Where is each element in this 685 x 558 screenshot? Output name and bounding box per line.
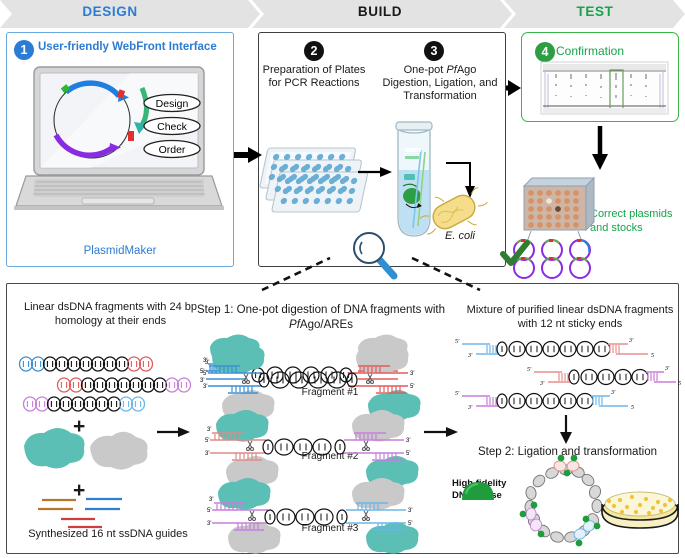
fragment-label-1: Fragment #1 bbox=[285, 387, 375, 398]
plasmid-stock-icons bbox=[514, 239, 590, 278]
phase-label-build: BUILD bbox=[330, 4, 430, 19]
arrow-build-to-test bbox=[506, 80, 521, 96]
step-badge-4: 4 bbox=[535, 42, 555, 62]
step3-rest: Digestion, Ligation, and Transformation bbox=[383, 77, 498, 102]
design-panel-title: User-friendly WebFront Interface bbox=[38, 41, 228, 55]
confirmation-title: Confirmation bbox=[556, 44, 656, 58]
step-badge-2: 2 bbox=[304, 41, 324, 61]
plasmidmaker-caption: PlasmidMaker bbox=[6, 245, 234, 259]
step1-pre: Step 1: One-pot digestion of DNA fragmen… bbox=[197, 304, 445, 316]
arrow-test-to-results bbox=[592, 126, 608, 170]
step3-post: Ago bbox=[457, 64, 477, 76]
step1-title: Step 1: One-pot digestion of DNA fragmen… bbox=[180, 303, 462, 333]
correct-plasmids-label: Correct plasmids and stocks bbox=[590, 208, 682, 236]
phase-banner: DESIGN BUILD TEST bbox=[0, 0, 685, 28]
guides-caption: Synthesized 16 nt ssDNA guides bbox=[8, 528, 208, 541]
stock-plate-icon bbox=[524, 178, 594, 242]
step-badge-3: 3 bbox=[424, 41, 444, 61]
pfago-label: PfAgo bbox=[92, 452, 148, 463]
design-panel bbox=[6, 32, 234, 267]
step2-title: Step 2: Ligation and transformation bbox=[455, 446, 680, 460]
build-step2-title: Preparation of Plates for PCR Reactions bbox=[262, 64, 366, 90]
fragment-label-2: Fragment #2 bbox=[285, 451, 375, 462]
step1-italic: Pf bbox=[289, 319, 300, 331]
ecoli-label: E. coli bbox=[430, 230, 490, 243]
mixture-title: Mixture of purified linear dsDNA fragmen… bbox=[460, 303, 680, 332]
step-badge-1: 1 bbox=[14, 40, 34, 60]
step3-pre: One-pot bbox=[404, 64, 447, 76]
pfago-star-label: PfAgo* bbox=[22, 452, 82, 463]
fragment-label-3: Fragment #3 bbox=[285, 523, 375, 534]
ligase-label: High fidelity DNA ligase bbox=[452, 478, 514, 502]
step1-post: Ago/AREs bbox=[300, 319, 353, 331]
check-mark-icon bbox=[503, 243, 527, 263]
phase-label-design: DESIGN bbox=[60, 4, 160, 19]
plus-symbol-1: + bbox=[73, 416, 85, 437]
build-step3-title: One-pot PfAgo Digestion, Ligation, and T… bbox=[378, 64, 502, 103]
step3-italic: Pf bbox=[446, 64, 456, 76]
plus-symbol-2: + bbox=[73, 480, 85, 501]
phase-label-test: TEST bbox=[545, 4, 645, 19]
